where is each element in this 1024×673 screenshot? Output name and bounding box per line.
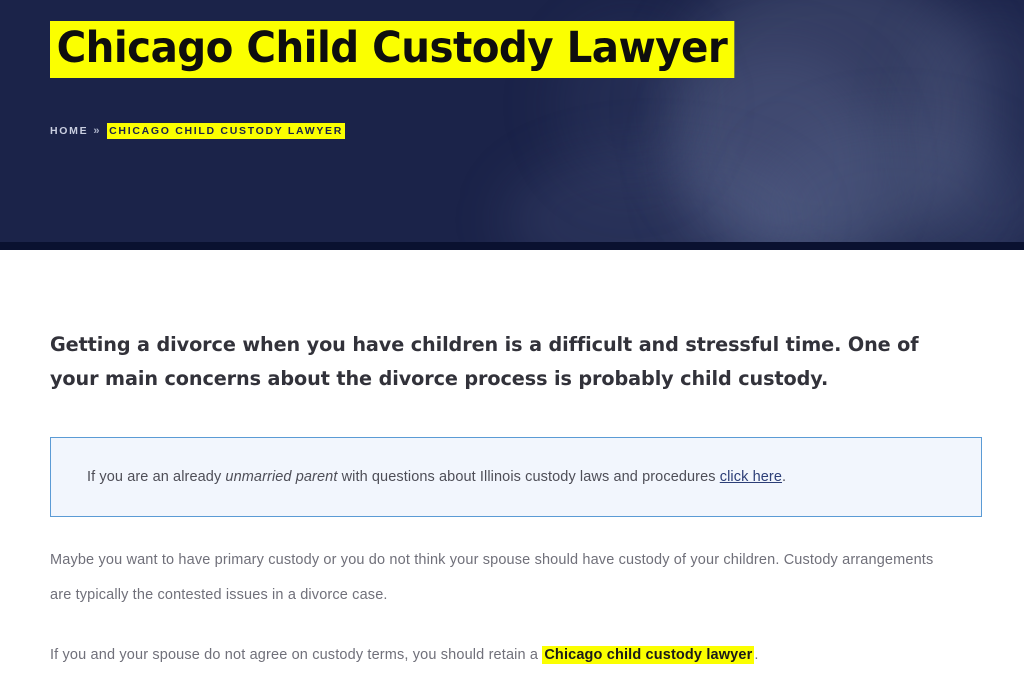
breadcrumb: HOME » CHICAGO CHILD CUSTODY LAWYER [50,123,345,139]
body-paragraph-two: If you and your spouse do not agree on c… [50,613,950,673]
breadcrumb-item-home[interactable]: HOME [50,125,88,137]
callout-text-before: If you are an already [87,469,225,485]
paragraph-two-text-before: If you and your spouse do not agree on c… [50,647,542,663]
callout-click-here-link[interactable]: click here [720,469,782,485]
callout-text-after: with questions about Illinois custody la… [337,469,719,485]
body-paragraph-one: Maybe you want to have primary custody o… [50,517,950,613]
paragraph-two-text-after: . [754,647,758,663]
page-title: Chicago Child Custody Lawyer [50,21,734,78]
hero-banner: Chicago Child Custody Lawyer HOME » CHIC… [0,0,1024,250]
main-content: Getting a divorce when you have children… [0,250,1024,673]
breadcrumb-separator-icon: » [93,125,101,137]
hero-bottom-divider [0,242,1024,250]
callout-text: If you are an already unmarried parent w… [87,466,786,488]
highlighted-keyword: Chicago child custody lawyer [542,646,754,664]
callout-box: If you are an already unmarried parent w… [50,437,982,517]
callout-italic-emphasis: unmarried parent [225,469,337,485]
intro-heading: Getting a divorce when you have children… [50,250,960,396]
breadcrumb-item-current: CHICAGO CHILD CUSTODY LAWYER [107,123,345,139]
callout-text-end: . [782,469,786,485]
